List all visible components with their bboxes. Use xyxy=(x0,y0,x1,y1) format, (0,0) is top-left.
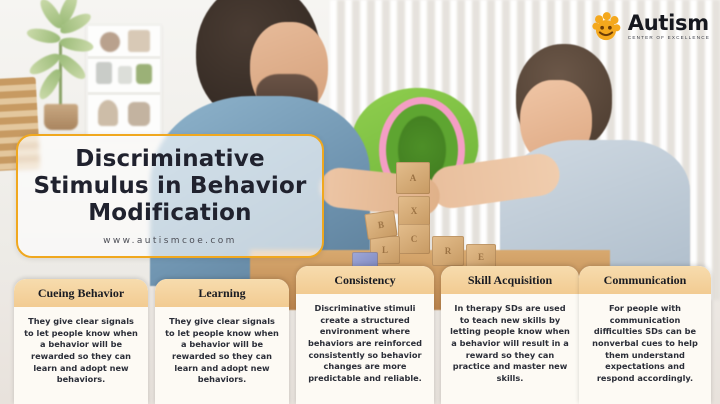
wooden-block: X xyxy=(398,196,430,226)
brand-tagline: CENTER OF EXCELLENCE xyxy=(628,36,710,41)
concept-card-skill-acquisition[interactable]: Skill Acquisition In therapy SDs are use… xyxy=(441,266,579,404)
concept-card-row: Cueing Behavior They give clear signals … xyxy=(0,254,720,404)
concept-card-consistency[interactable]: Consistency Discriminative stimuli creat… xyxy=(296,266,434,404)
card-body: Discriminative stimuli create a structur… xyxy=(296,294,434,390)
card-heading: Communication xyxy=(579,266,711,294)
concept-card-communication[interactable]: Communication For people with communicat… xyxy=(579,266,711,404)
card-body: For people with communication difficulti… xyxy=(579,294,711,390)
wooden-block: A xyxy=(396,162,430,194)
card-body: They give clear signals to let people kn… xyxy=(14,307,148,392)
wooden-block: C xyxy=(398,224,430,254)
card-heading: Consistency xyxy=(296,266,434,294)
card-heading: Cueing Behavior xyxy=(14,279,148,307)
title-card: Discriminative Stimulus in Behavior Modi… xyxy=(16,134,324,258)
concept-card-cueing-behavior[interactable]: Cueing Behavior They give clear signals … xyxy=(14,279,148,404)
website-url[interactable]: www.autismcoe.com xyxy=(103,236,237,246)
card-body: In therapy SDs are used to teach new ski… xyxy=(441,294,579,390)
card-heading: Learning xyxy=(155,279,289,307)
wooden-block: B xyxy=(364,210,397,240)
title-line-2: Stimulus in Behavior xyxy=(33,173,306,199)
card-body: They give clear signals to let people kn… xyxy=(155,307,289,392)
page-title: Discriminative Stimulus in Behavior Modi… xyxy=(33,146,306,226)
brand-name: Autism xyxy=(628,13,710,34)
brand-logo[interactable]: Autism CENTER OF EXCELLENCE xyxy=(589,10,710,44)
title-line-1: Discriminative xyxy=(75,146,265,172)
card-heading: Skill Acquisition xyxy=(441,266,579,294)
title-line-3: Modification xyxy=(88,200,252,226)
autism-puzzle-smiley-icon xyxy=(589,10,623,44)
concept-card-learning[interactable]: Learning They give clear signals to let … xyxy=(155,279,289,404)
infographic-poster: X C A L B R E A xyxy=(0,0,720,404)
